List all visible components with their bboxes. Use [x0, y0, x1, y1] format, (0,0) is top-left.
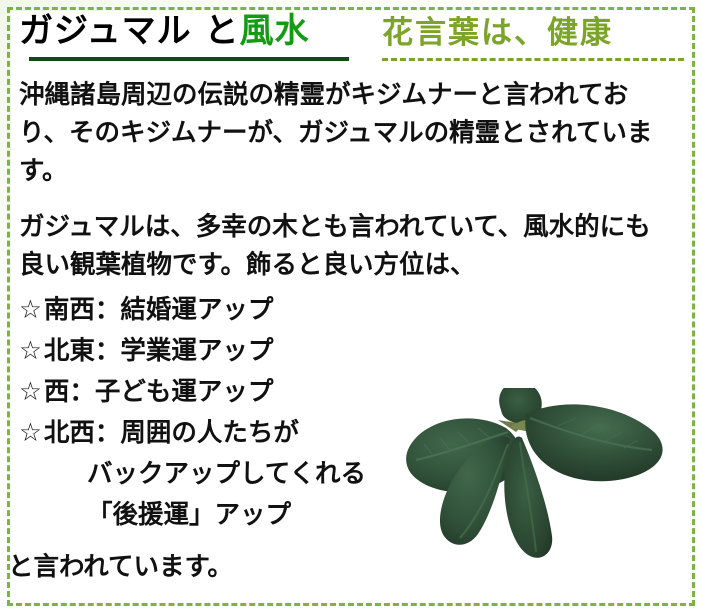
header: ガジュマル と風水 花言葉は、健康	[19, 9, 679, 71]
direction-list: ☆南西：結婚運アップ ☆北東：学業運アップ ☆西：子ども運アップ ☆北西：周囲の…	[19, 290, 449, 536]
subtitle-dashed-underline	[382, 58, 684, 61]
list-item: ☆南西：結婚運アップ	[19, 290, 449, 331]
star-icon: ☆	[19, 372, 42, 413]
list-item: ☆北東：学業運アップ	[19, 331, 449, 372]
body-copy: 沖縄諸島周辺の伝説の精霊がキジムナーと言われており、そのキジムナーが、ガジュマル…	[19, 76, 675, 284]
page-title: ガジュマル と風水	[19, 9, 309, 53]
list-item-continuation: 「後援運」アップ	[19, 495, 449, 536]
list-item-label: 北東：学業運アップ	[44, 336, 274, 366]
star-icon: ☆	[19, 413, 42, 454]
gajumaru-leaves-photo	[398, 388, 686, 590]
star-icon: ☆	[19, 331, 42, 372]
leaf-right	[525, 404, 662, 481]
list-item-label: 南西：結婚運アップ	[44, 295, 274, 325]
title-underline	[29, 57, 349, 61]
star-icon: ☆	[19, 290, 42, 331]
info-card: ガジュマル と風水 花言葉は、健康 沖縄諸島周辺の伝説の精霊がキジムナーと言われ…	[0, 0, 702, 613]
subtitle: 花言葉は、健康	[382, 11, 613, 55]
list-item: ☆西：子ども運アップ	[19, 372, 449, 413]
list-item-label: 北西：周囲の人たちが	[44, 418, 299, 448]
page-title-plain: ガジュマル と	[19, 11, 239, 51]
closing-text: と言われています。	[8, 548, 233, 586]
list-item-label: 西：子ども運アップ	[44, 377, 274, 407]
page-title-accent: 風水	[239, 11, 309, 51]
paragraph-2: ガジュマルは、多幸の木とも言われていて、風水的にも良い観葉植物です。飾ると良い方…	[19, 208, 673, 284]
list-item-continuation: バックアップしてくれる	[19, 454, 449, 495]
paragraph-1: 沖縄諸島周辺の伝説の精霊がキジムナーと言われており、そのキジムナーが、ガジュマル…	[19, 76, 673, 190]
list-item: ☆北西：周囲の人たちが	[19, 413, 449, 454]
